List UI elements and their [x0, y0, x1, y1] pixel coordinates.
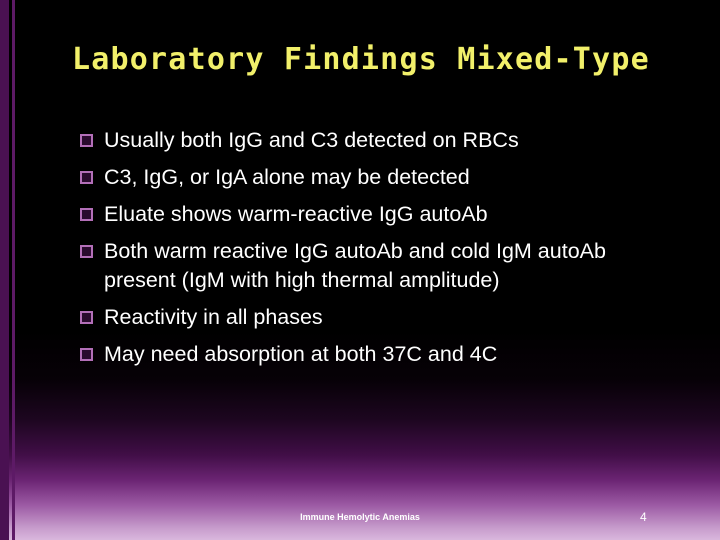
list-item-label: Reactivity in all phases: [104, 303, 680, 332]
square-bullet-icon: [80, 348, 93, 361]
list-item: Eluate shows warm-reactive IgG autoAb: [80, 200, 680, 229]
slide-title: Laboratory Findings Mixed-Type: [72, 42, 684, 77]
footer-title: Immune Hemolytic Anemias: [0, 512, 720, 522]
list-item-label: C3, IgG, or IgA alone may be detected: [104, 163, 680, 192]
left-edge-bar-outer: [0, 0, 9, 540]
list-item: Reactivity in all phases: [80, 303, 680, 332]
page-number: 4: [640, 510, 700, 524]
list-item-label: Both warm reactive IgG autoAb and cold I…: [104, 237, 680, 295]
list-item: Both warm reactive IgG autoAb and cold I…: [80, 237, 680, 295]
square-bullet-icon: [80, 208, 93, 221]
square-bullet-icon: [80, 245, 93, 258]
square-bullet-icon: [80, 311, 93, 324]
slide: Laboratory Findings Mixed-Type Usually b…: [0, 0, 720, 540]
list-item: May need absorption at both 37C and 4C: [80, 340, 680, 369]
list-item-label: May need absorption at both 37C and 4C: [104, 340, 680, 369]
bullet-list: Usually both IgG and C3 detected on RBCs…: [80, 126, 680, 377]
list-item: Usually both IgG and C3 detected on RBCs: [80, 126, 680, 155]
list-item: C3, IgG, or IgA alone may be detected: [80, 163, 680, 192]
list-item-label: Eluate shows warm-reactive IgG autoAb: [104, 200, 680, 229]
square-bullet-icon: [80, 171, 93, 184]
list-item-label: Usually both IgG and C3 detected on RBCs: [104, 126, 680, 155]
square-bullet-icon: [80, 134, 93, 147]
left-edge-bar-inner: [12, 0, 15, 540]
